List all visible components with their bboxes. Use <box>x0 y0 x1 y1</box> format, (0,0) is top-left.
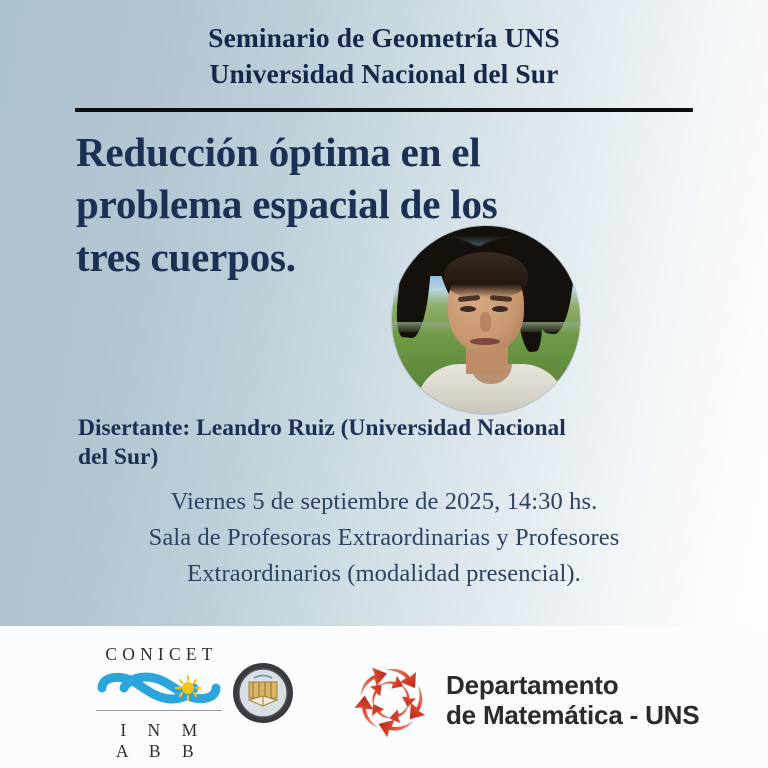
departamento-matematica-text: Departamento de Matemática - UNS <box>446 670 699 730</box>
departamento-line-1: Departamento <box>446 670 699 700</box>
talk-title-line-1: Reducción óptima en el <box>76 126 636 178</box>
event-venue-line-1: Sala de Profesoras Extraordinarias y Pro… <box>0 520 768 556</box>
event-datetime: Viernes 5 de septiembre de 2025, 14:30 h… <box>0 484 768 520</box>
speaker-photo <box>392 226 580 414</box>
seminar-poster: Seminario de Geometría UNS Universidad N… <box>0 0 768 768</box>
universidad-nacional-del-sur-seal <box>232 662 294 724</box>
argentine-sun-icon <box>176 676 200 700</box>
photo-background-scene <box>392 226 580 414</box>
conicet-wordmark: CONICET <box>96 644 222 665</box>
departamento-line-2: de Matemática - UNS <box>446 700 699 730</box>
university-name: Universidad Nacional del Sur <box>0 56 768 92</box>
person-mouth <box>470 338 500 345</box>
person-eye-right <box>492 306 508 312</box>
departamento-matematica-logo: Departamento de Matemática - UNS <box>352 662 699 738</box>
event-venue-line-2: Extraordinarios (modalidad presencial). <box>0 556 768 592</box>
speaker-info: Disertante: Leandro Ruiz (Universidad Na… <box>78 414 634 471</box>
header-divider-rule <box>75 108 693 112</box>
talk-title-line-2: problema espacial de los <box>76 178 636 230</box>
conicet-inmabb-logo: CONICET <box>96 644 222 762</box>
person-hair <box>444 252 528 298</box>
footer-logo-band: CONICET <box>0 626 768 768</box>
uns-seal-svg <box>232 662 294 724</box>
conicet-divider <box>96 710 222 711</box>
pinwheel-arrows-icon <box>352 662 430 738</box>
person-nose <box>480 312 491 332</box>
inmabb-wordmark: I N M A B B <box>96 720 222 762</box>
seminar-header: Seminario de Geometría UNS Universidad N… <box>0 20 768 93</box>
conicet-infinity-icon <box>96 669 222 707</box>
conicet-infinity-svg <box>96 669 222 707</box>
speaker-info-line-1: Disertante: Leandro Ruiz (Universidad Na… <box>78 414 634 443</box>
person-eye-left <box>460 306 476 312</box>
seminar-series-name: Seminario de Geometría UNS <box>0 20 768 56</box>
speaker-info-line-2: del Sur) <box>78 443 634 472</box>
event-details: Viernes 5 de septiembre de 2025, 14:30 h… <box>0 484 768 591</box>
